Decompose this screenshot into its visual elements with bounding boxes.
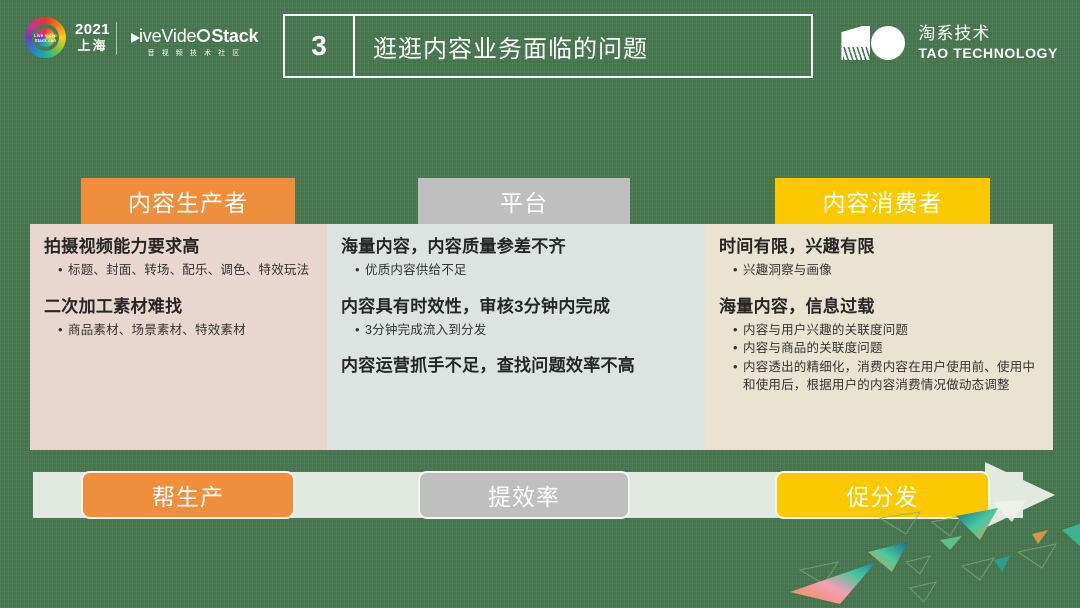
problem-block: 内容具有时效性，审核3分钟内完成3分钟完成流入到分发 (341, 296, 691, 340)
slide-canvas: Live Video Stack con 2021 上海 iveVideStac… (0, 0, 1080, 608)
problem-bullet: 标题、封面、转场、配乐、调色、特效玩法 (58, 262, 313, 280)
column-tab-label: 平台 (500, 184, 548, 218)
circle-o-icon (197, 29, 210, 42)
event-city: 上海 (75, 39, 110, 53)
problem-heading: 时间有限，兴趣有限 (719, 236, 1039, 259)
section-number: 3 (285, 16, 355, 76)
problem-bullet: 内容与用户兴趣的关联度问题 (733, 322, 1039, 340)
outcome-pill-label: 帮生产 (152, 478, 224, 512)
problem-bullet-list: 内容与用户兴趣的关联度问题内容与商品的关联度问题内容透出的精细化，消费内容在用户… (719, 322, 1039, 395)
problem-bullet: 内容与商品的关联度问题 (733, 340, 1039, 358)
company-name-en: TAO TECHNOLOGY (918, 45, 1058, 62)
content-panel-platform: 海量内容，内容质量参差不齐优质内容供给不足内容具有时效性，审核3分钟内完成3分钟… (327, 224, 705, 450)
problem-bullet: 兴趣洞察与画像 (733, 262, 1039, 280)
wordmark-part1: iveVide (139, 26, 196, 46)
problem-bullet: 内容透出的精细化，消费内容在用户使用前、使用中和使用后，根据用户的内容消费情况做… (733, 359, 1039, 395)
problem-block: 二次加工素材难找商品素材、场景素材、特效素材 (44, 296, 313, 340)
problem-heading: 海量内容，信息过载 (719, 296, 1039, 319)
outcome-pill-improve-efficiency[interactable]: 提效率 (418, 471, 630, 519)
slide-header: Live Video Stack con 2021 上海 iveVideStac… (0, 0, 1080, 88)
problem-bullet-list: 优质内容供给不足 (341, 262, 691, 280)
problem-heading: 内容具有时效性，审核3分钟内完成 (341, 296, 691, 319)
problem-bullet: 3分钟完成流入到分发 (355, 322, 691, 340)
problem-bullet-list: 3分钟完成流入到分发 (341, 322, 691, 340)
problem-heading: 二次加工素材难找 (44, 296, 313, 319)
slide-title-box: 3 逛逛内容业务面临的问题 (283, 14, 813, 78)
outcome-pill-label: 促分发 (847, 478, 919, 512)
problem-bullet: 商品素材、场景素材、特效素材 (58, 322, 313, 340)
column-tab-platform[interactable]: 平台 (418, 178, 630, 224)
problem-heading: 内容运营抓手不足，查找问题效率不高 (341, 355, 691, 378)
problem-bullet-list: 标题、封面、转场、配乐、调色、特效玩法 (44, 262, 313, 280)
logo-badge-line2: Stack con (35, 38, 57, 43)
problem-bullet: 优质内容供给不足 (355, 262, 691, 280)
problem-block: 海量内容，信息过载内容与用户兴趣的关联度问题内容与商品的关联度问题内容透出的精细… (719, 296, 1039, 395)
event-year: 2021 (75, 22, 110, 39)
wordmark-subtitle: 音 视 频 技 术 社 区 (131, 48, 258, 58)
livevideostack-logo: Live Video Stack con 2021 上海 (25, 17, 110, 58)
problem-block: 内容运营抓手不足，查找问题效率不高 (341, 355, 691, 378)
problem-heading: 海量内容，内容质量参差不齐 (341, 236, 691, 259)
tao-mark-icon (841, 24, 907, 62)
column-tab-consumer[interactable]: 内容消费者 (775, 178, 990, 224)
content-panel-producer: 拍摄视频能力要求高标题、封面、转场、配乐、调色、特效玩法二次加工素材难找商品素材… (30, 224, 327, 450)
problem-block: 时间有限，兴趣有限兴趣洞察与画像 (719, 236, 1039, 280)
column-tab-label: 内容消费者 (823, 184, 943, 218)
rainbow-ring-icon: Live Video Stack con (25, 17, 66, 58)
content-panel-consumer: 时间有限，兴趣有限兴趣洞察与画像海量内容，信息过载内容与用户兴趣的关联度问题内容… (705, 224, 1053, 450)
problem-bullet-list: 兴趣洞察与画像 (719, 262, 1039, 280)
wordmark-part2: Stack (211, 26, 258, 46)
company-name-cn: 淘系技术 (918, 24, 1058, 45)
outcome-pill-label: 提效率 (488, 478, 560, 512)
column-tab-label: 内容生产者 (128, 184, 248, 218)
problem-block: 海量内容，内容质量参差不齐优质内容供给不足 (341, 236, 691, 280)
livevideostack-wordmark: iveVideStack 音 视 频 技 术 社 区 (131, 26, 258, 58)
outcome-pill-help-produce[interactable]: 帮生产 (81, 471, 295, 519)
tao-technology-logo: 淘系技术 TAO TECHNOLOGY (841, 24, 1058, 62)
event-year-city: 2021 上海 (75, 22, 110, 53)
page-title: 逛逛内容业务面临的问题 (355, 16, 811, 76)
header-divider (116, 22, 117, 55)
problem-block: 拍摄视频能力要求高标题、封面、转场、配乐、调色、特效玩法 (44, 236, 313, 280)
outcome-pill-boost-distribution[interactable]: 促分发 (775, 471, 990, 519)
column-tab-producer[interactable]: 内容生产者 (81, 178, 295, 224)
problem-heading: 拍摄视频能力要求高 (44, 236, 313, 259)
problem-bullet-list: 商品素材、场景素材、特效素材 (44, 322, 313, 340)
